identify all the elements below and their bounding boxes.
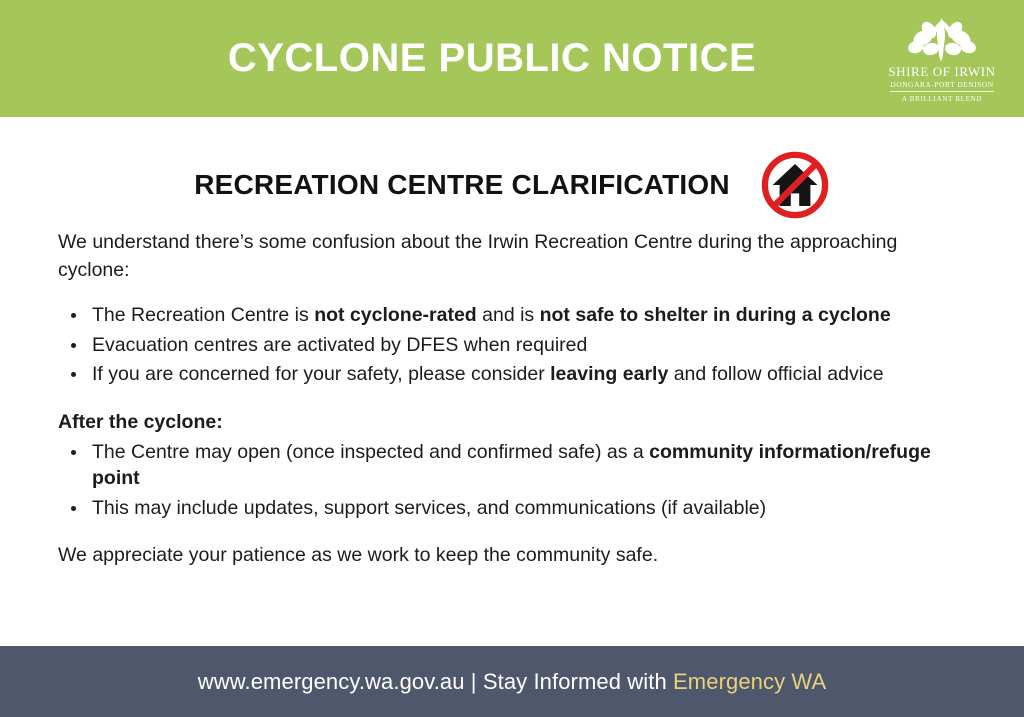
- section-title-row: RECREATION CENTRE CLARIFICATION: [0, 147, 1024, 223]
- bullet-list-after: The Centre may open (once inspected and …: [58, 439, 974, 522]
- list-item: This may include updates, support servic…: [58, 495, 974, 522]
- section-title: RECREATION CENTRE CLARIFICATION: [194, 169, 730, 201]
- after-cyclone-heading: After the cyclone:: [58, 409, 974, 437]
- footer-url-text: www.emergency.wa.gov.au | Stay Informed …: [198, 669, 673, 694]
- logo-name: SHIRE OF IRWIN: [888, 65, 995, 79]
- list-item: If you are concerned for your safety, pl…: [58, 361, 974, 388]
- list-item: Evacuation centres are activated by DFES…: [58, 332, 974, 359]
- logo-tagline: A BRILLIANT BLEND: [902, 95, 982, 103]
- closing-paragraph: We appreciate your patience as we work t…: [58, 542, 974, 570]
- tree-logo-icon: [905, 16, 979, 64]
- bullet-list-before: The Recreation Centre is not cyclone-rat…: [58, 302, 974, 388]
- list-item: The Recreation Centre is not cyclone-rat…: [58, 302, 974, 329]
- notice-body: RECREATION CENTRE CLARIFICATION We under…: [0, 117, 1024, 646]
- notice-content: We understand there’s some confusion abo…: [58, 229, 974, 570]
- no-shelter-icon: [760, 150, 830, 220]
- page-title: CYCLONE PUBLIC NOTICE: [228, 36, 796, 81]
- shire-of-irwin-logo: SHIRE OF IRWIN DONGARA-PORT DENISON A BR…: [884, 16, 1000, 104]
- list-item: The Centre may open (once inspected and …: [58, 439, 974, 492]
- notice-header: CYCLONE PUBLIC NOTICE SHIRE OF IRWIN DON…: [0, 0, 1024, 117]
- intro-paragraph: We understand there’s some confusion abo…: [58, 229, 974, 284]
- footer-accent-text: Emergency WA: [673, 669, 826, 694]
- logo-subtitle: DONGARA-PORT DENISON: [890, 80, 993, 92]
- footer-text: www.emergency.wa.gov.au | Stay Informed …: [198, 669, 826, 695]
- notice-footer: www.emergency.wa.gov.au | Stay Informed …: [0, 646, 1024, 717]
